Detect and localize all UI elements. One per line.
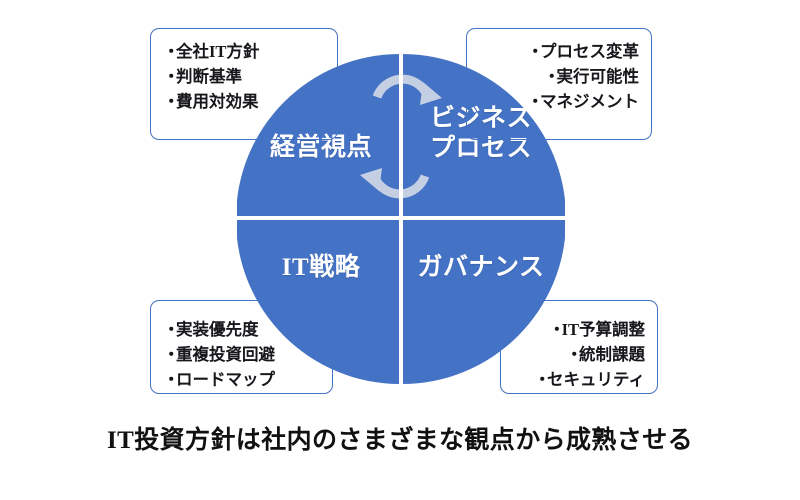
callout-box-business-process: ・プロセス変革 ・実行可能性 ・マネジメント (466, 28, 652, 140)
callout-box-governance: ・IT予算調整 ・統制課題 ・セキュリティ (500, 300, 658, 394)
callout-list: ・実装優先度 ・重複投資回避 ・ロードマップ (163, 317, 320, 392)
callout-box-keiei-shiten: ・全社IT方針 ・判断基準 ・費用対効果 (150, 28, 338, 140)
bullet-icon: ・ (163, 342, 176, 367)
list-item: ・実装優先度 (163, 317, 320, 342)
list-item-label: マネジメント (540, 92, 639, 111)
list-item: ・マネジメント (479, 89, 639, 114)
list-item-label: 判断基準 (176, 67, 242, 86)
list-item: ・費用対効果 (163, 89, 325, 114)
list-item-label: 実行可能性 (557, 67, 640, 86)
list-item: ・セキュリティ (513, 367, 645, 392)
list-item-label: 統制課題 (579, 345, 645, 364)
list-item: ・全社IT方針 (163, 39, 325, 64)
list-item-label: 全社IT方針 (176, 42, 259, 61)
list-item: ・重複投資回避 (163, 342, 320, 367)
bullet-icon: ・ (163, 317, 176, 342)
list-item-label: IT予算調整 (562, 320, 645, 339)
bullet-icon: ・ (163, 64, 176, 89)
list-item: ・判断基準 (163, 64, 325, 89)
list-item-label: 重複投資回避 (176, 345, 275, 364)
callout-list: ・IT予算調整 ・統制課題 ・セキュリティ (513, 317, 645, 392)
list-item: ・プロセス変革 (479, 39, 639, 64)
bullet-icon: ・ (163, 39, 176, 64)
bullet-icon: ・ (163, 367, 176, 392)
list-item-label: 実装優先度 (176, 320, 259, 339)
list-item-label: プロセス変革 (540, 42, 639, 61)
callout-list: ・プロセス変革 ・実行可能性 ・マネジメント (479, 39, 639, 114)
diagram-caption: IT投資方針は社内のさまざまな観点から成熟させる (0, 420, 800, 456)
bullet-icon: ・ (549, 317, 562, 342)
list-item-label: セキュリティ (547, 370, 645, 389)
list-item: ・統制課題 (513, 342, 645, 367)
callout-list: ・全社IT方針 ・判断基準 ・費用対効果 (163, 39, 325, 114)
list-item-label: ロードマップ (176, 370, 275, 389)
bullet-icon: ・ (527, 89, 540, 114)
bullet-icon: ・ (544, 64, 557, 89)
quadrant-label-governance: ガバナンス (406, 253, 556, 283)
callout-box-it-senryaku: ・実装優先度 ・重複投資回避 ・ロードマップ (150, 300, 333, 394)
bullet-icon: ・ (527, 39, 540, 64)
bullet-icon: ・ (534, 367, 547, 392)
quadrant-label-it-senryaku: IT戦略 (247, 253, 395, 283)
bullet-icon: ・ (163, 89, 176, 114)
divider-horizontal (237, 216, 565, 220)
list-item: ・ロードマップ (163, 367, 320, 392)
list-item: ・IT予算調整 (513, 317, 645, 342)
list-item: ・実行可能性 (479, 64, 639, 89)
bullet-icon: ・ (566, 342, 579, 367)
list-item-label: 費用対効果 (176, 92, 259, 111)
diagram-canvas: 経営視点 ビジネス プロセス IT戦略 ガバナンス ・全社IT方針 ・判断基準 … (0, 0, 800, 500)
